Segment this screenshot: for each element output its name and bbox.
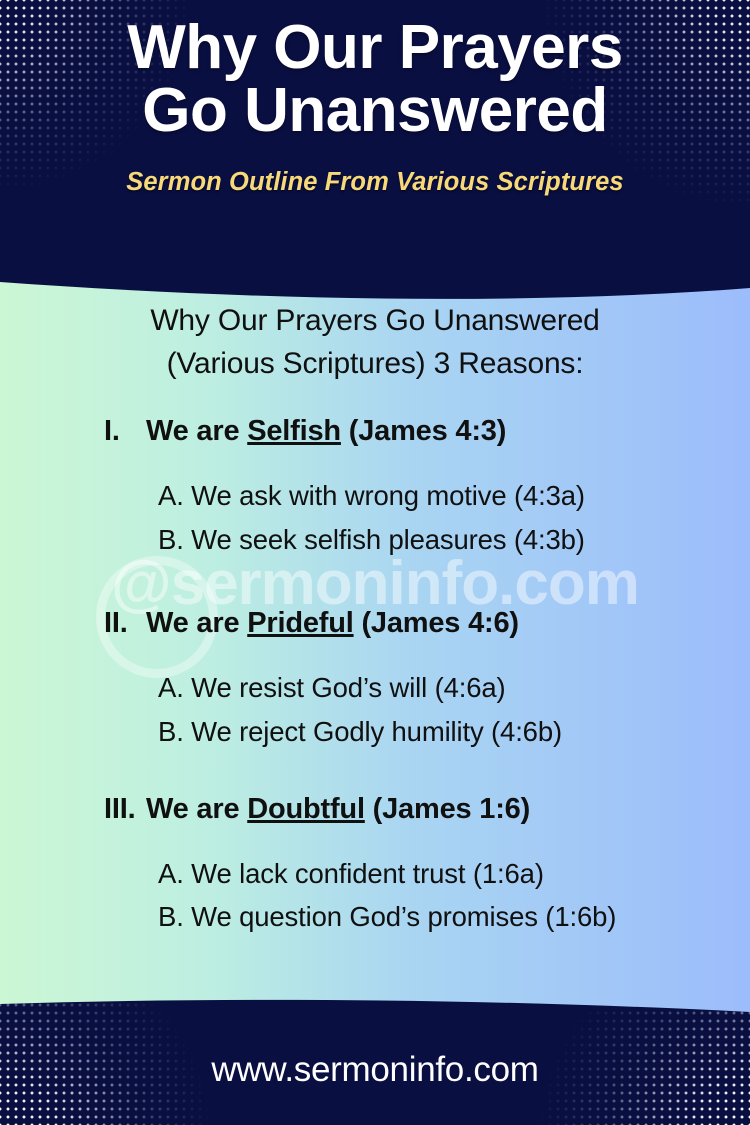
outline-reason: II. We are Prideful (James 4:6) A. We re… — [0, 607, 750, 753]
intro-line-2: (Various Scriptures) 3 Reasons: — [60, 343, 690, 386]
reason-title-prefix: We are — [146, 607, 247, 639]
reason-subpoints: A. We ask with wrong motive (4:3a) B. We… — [0, 474, 750, 561]
reason-numeral: I. — [104, 415, 146, 448]
poster: Why Our Prayers Go Unanswered Sermon Out… — [0, 0, 750, 1125]
subpoint: B. We question God’s promises (1:6b) — [158, 895, 750, 938]
reason-numeral: III. — [104, 793, 146, 826]
title-line-1: Why Our Prayers — [0, 16, 750, 79]
reason-title-suffix: (James 4:3) — [341, 415, 506, 447]
reason-title-keyword: Selfish — [247, 415, 341, 447]
intro-line-1: Why Our Prayers Go Unanswered — [60, 300, 690, 343]
poster-footer: www.sermoninfo.com — [0, 1015, 750, 1125]
sermon-outline: Why Our Prayers Go Unanswered (Various S… — [0, 300, 750, 939]
reason-title-prefix: We are — [146, 793, 247, 825]
reason-numeral: II. — [104, 607, 146, 640]
reason-title: We are Prideful (James 4:6) — [146, 607, 519, 640]
reason-title-prefix: We are — [146, 415, 247, 447]
reason-subpoints: A. We lack confident trust (1:6a) B. We … — [0, 852, 750, 939]
reason-title-keyword: Doubtful — [247, 793, 365, 825]
reason-title: We are Selfish (James 4:3) — [146, 415, 506, 448]
reason-subpoints: A. We resist God’s will (4:6a) B. We rej… — [0, 666, 750, 753]
outline-reason: III. We are Doubtful (James 1:6) A. We l… — [0, 793, 750, 939]
page-title: Why Our Prayers Go Unanswered — [0, 0, 750, 142]
outline-intro: Why Our Prayers Go Unanswered (Various S… — [0, 300, 750, 385]
subpoint: A. We lack confident trust (1:6a) — [158, 852, 750, 895]
reason-title-keyword: Prideful — [247, 607, 353, 639]
page-subtitle: Sermon Outline From Various Scriptures — [0, 142, 750, 197]
outline-reason: I. We are Selfish (James 4:3) A. We ask … — [0, 415, 750, 561]
reason-heading: I. We are Selfish (James 4:3) — [0, 415, 750, 448]
reason-heading: II. We are Prideful (James 4:6) — [0, 607, 750, 640]
subpoint: B. We seek selfish pleasures (4:3b) — [158, 518, 750, 561]
reason-title-suffix: (James 4:6) — [354, 607, 519, 639]
subpoint: B. We reject Godly humility (4:6b) — [158, 710, 750, 753]
footer-url[interactable]: www.sermoninfo.com — [211, 1050, 538, 1090]
subpoint: A. We ask with wrong motive (4:3a) — [158, 474, 750, 517]
reason-title: We are Doubtful (James 1:6) — [146, 793, 530, 826]
reason-heading: III. We are Doubtful (James 1:6) — [0, 793, 750, 826]
reason-title-suffix: (James 1:6) — [365, 793, 530, 825]
subpoint: A. We resist God’s will (4:6a) — [158, 666, 750, 709]
poster-header: Why Our Prayers Go Unanswered Sermon Out… — [0, 0, 750, 290]
title-line-2: Go Unanswered — [0, 79, 750, 142]
